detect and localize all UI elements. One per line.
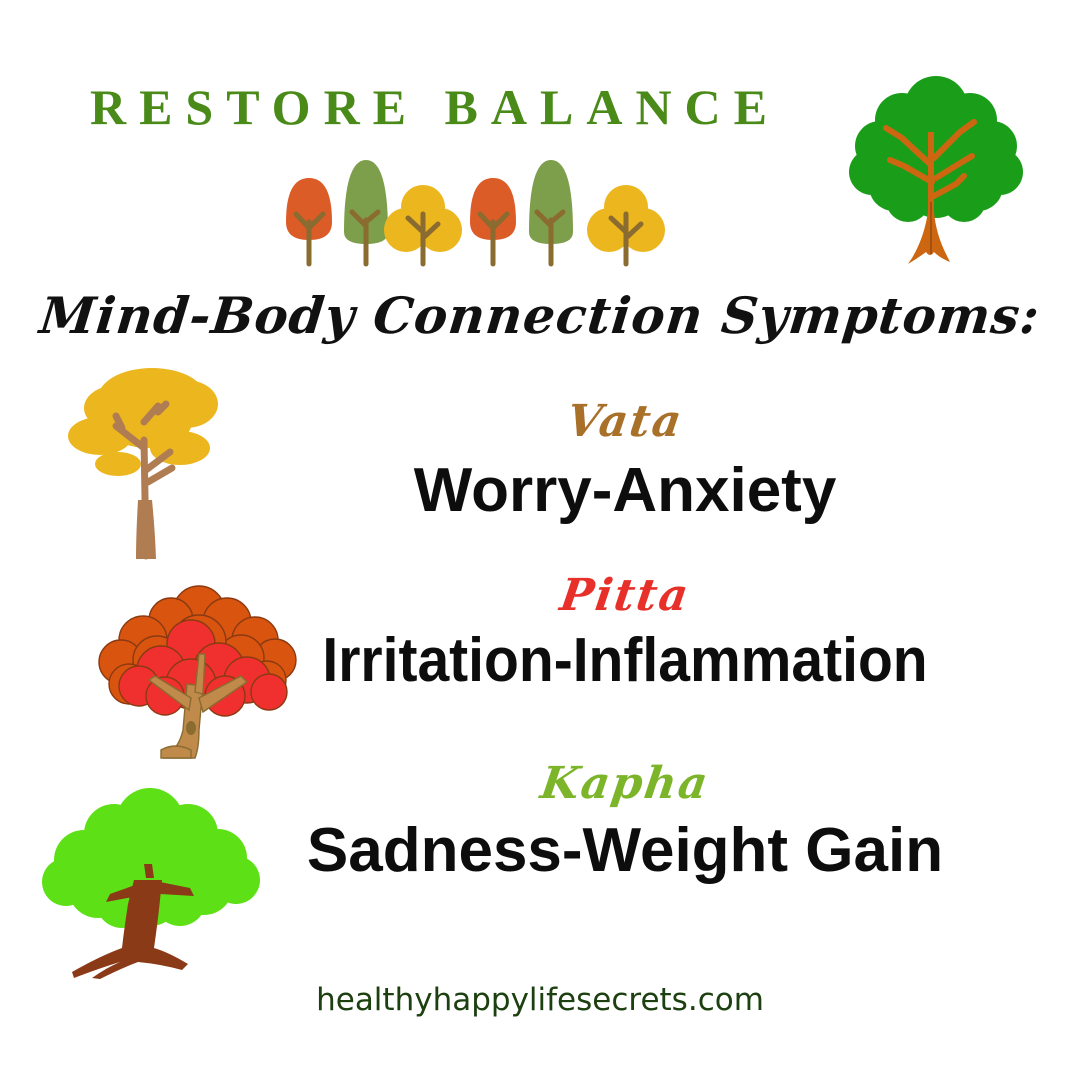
dosha-row-vata: Vata Worry-Anxiety bbox=[0, 360, 1080, 560]
dosha-name-pitta: Pitta bbox=[227, 574, 1023, 618]
dosha-symptom-pitta: Irritation-Inflammation bbox=[262, 628, 989, 693]
dosha-row-kapha: Kapha Sadness-Weight Gain bbox=[0, 742, 1080, 942]
yellow-acacia-tree-icon bbox=[62, 360, 242, 565]
subtitle-heading: Mind-Body Connection Symptoms: bbox=[0, 286, 1080, 345]
autumn-tree-row-icon bbox=[266, 152, 716, 277]
page-title: RESTORE BALANCE bbox=[0, 78, 870, 136]
bright-green-broadleaf-tree-icon bbox=[42, 780, 262, 980]
dosha-row-pitta: Pitta Irritation-Inflammation bbox=[0, 552, 1080, 752]
green-oak-tree-icon bbox=[846, 62, 1026, 282]
dosha-text-kapha: Kapha Sadness-Weight Gain bbox=[230, 762, 1020, 883]
footer-website-url[interactable]: healthyhappylifesecrets.com bbox=[0, 982, 1080, 1018]
dosha-name-vata: Vata bbox=[227, 400, 1023, 444]
dosha-symptom-kapha: Sadness-Weight Gain bbox=[230, 818, 1020, 883]
dosha-text-pitta: Pitta Irritation-Inflammation bbox=[230, 574, 1020, 693]
dosha-name-kapha: Kapha bbox=[227, 762, 1023, 806]
dosha-symptom-vata: Worry-Anxiety bbox=[230, 458, 1020, 523]
dosha-text-vata: Vata Worry-Anxiety bbox=[230, 400, 1020, 523]
poster-canvas: RESTORE BALANCE bbox=[0, 0, 1080, 1080]
